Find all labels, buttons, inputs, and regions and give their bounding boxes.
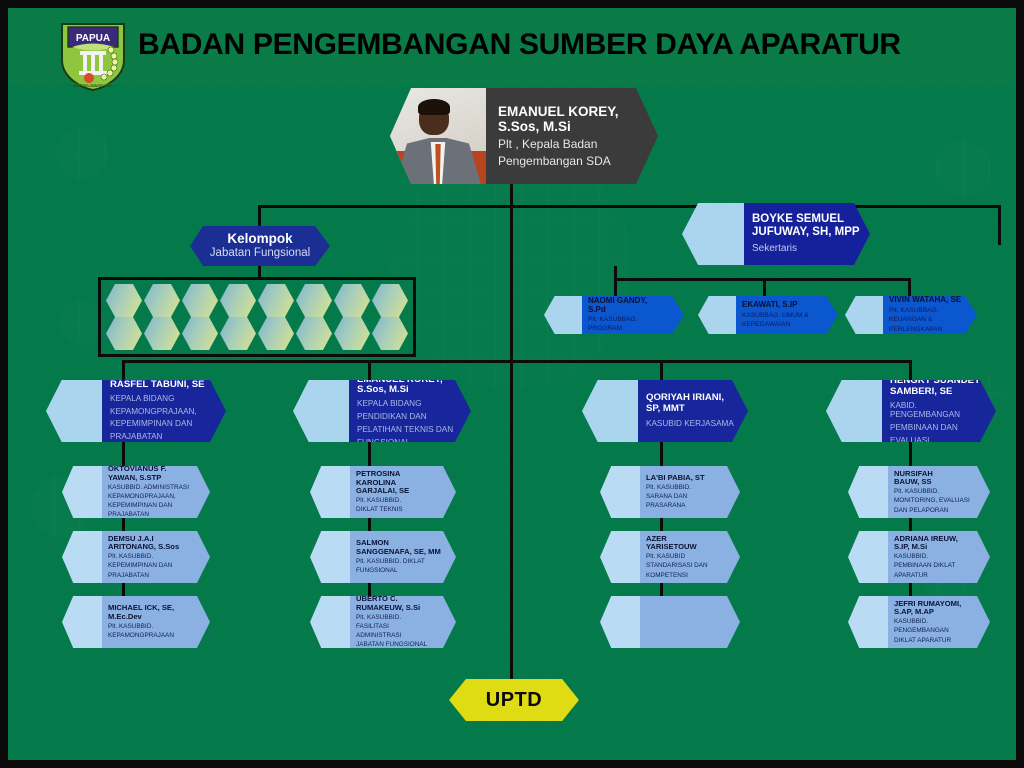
sub-card-3-2[interactable]: JEFRI RUMAYOMI, S.AP, M.AP KASUBBID. PEN… [848, 596, 990, 648]
sub-name2: S.AP, M.AP [894, 608, 980, 617]
sub-name2: SANGGENAFA, SE, MM [356, 548, 446, 557]
hex-cell[interactable] [258, 317, 294, 350]
bidang-hex-icon [293, 380, 349, 442]
bidang-name2-2: SP, MMT [646, 404, 738, 415]
connector-bidang-2 [660, 360, 663, 382]
sub-role2: FASILITASI [356, 623, 446, 631]
bidang-hex-icon [582, 380, 638, 442]
bidang-text-2: QORIYAH IRIANI, SP, MMT KASUBID KERJASAM… [638, 380, 748, 442]
hex-cell[interactable] [220, 284, 256, 317]
hex-cell[interactable] [258, 284, 294, 317]
org-chart-canvas: PAPUA KARYA SWADAYA BADAN PENGEMBANGAN S… [0, 0, 1024, 768]
bidang-role-2: KASUBID KERJASAMA [646, 419, 738, 429]
hex-cell[interactable] [182, 317, 218, 350]
kasubbag-name2-0: S.Pd [588, 306, 674, 315]
leader-name-line2: S.Sos, M.Si [498, 119, 648, 134]
hex-cell[interactable] [372, 284, 408, 317]
sub-name2: BAUW, SS [894, 478, 980, 487]
connector-bidang-horizontal [122, 360, 912, 363]
sub-role2: FUNGSIONAL [356, 567, 446, 575]
bidang-role-3: KABID. PENGEMBANGAN [890, 401, 986, 421]
page-title: BADAN PENGEMBANGAN SUMBER DAYA APARATUR [138, 28, 901, 62]
uptd-card[interactable]: UPTD [449, 679, 579, 721]
sub-text-1-0: PETROSINA KAROLINA GARJALAI, SE Plt. KAS… [350, 466, 456, 518]
sub-card-1-0[interactable]: PETROSINA KAROLINA GARJALAI, SE Plt. KAS… [310, 466, 456, 518]
hex-cell[interactable] [220, 317, 256, 350]
sub-hex-icon [310, 466, 350, 518]
connector-to-sekretaris-right [998, 205, 1001, 245]
bidang-hex-icon [826, 380, 882, 442]
sub-role: KASUBBID. ADMINISTRASI [108, 484, 200, 492]
sub-hex-icon [600, 466, 640, 518]
sub-role3: PRAJABATAN [108, 572, 200, 580]
sub-role: Plt. KASUBBID. DIKLAT [356, 558, 446, 566]
kasubbag-role2-1: KEPEGAWAIAN [742, 321, 828, 329]
sub-text-1-1: SALMON SANGGENAFA, SE, MM Plt. KASUBBID.… [350, 531, 456, 583]
sekretaris-card[interactable]: BOYKE SEMUEL JUFUWAY, SH, MPP Sekertaris [682, 203, 870, 265]
sub-text-1-2: UBERTO C. RUMAKEUW, S.Si Plt. KASUBBID. … [350, 596, 456, 648]
sub-hex-icon [848, 596, 888, 648]
bidang-role4-0: PRAJABATAN [110, 432, 216, 442]
sub-hex-icon [600, 596, 640, 648]
sub-hex-icon [62, 531, 102, 583]
kelompok-text: Kelompok Jabatan Fungsional [190, 226, 330, 266]
bidang-role3-1: PELATIHAN TEKNIS DAN [357, 425, 461, 435]
sub-name2: ARITONANG, S.Sos [108, 543, 200, 552]
sub-text-0-0: OKTOVIANUS F. YAWAN, S.STP KASUBBID. ADM… [102, 466, 210, 518]
sub-card-0-2[interactable]: MICHAEL ICK, SE, M.Ec.Dev Plt. KASUBBID.… [62, 596, 210, 648]
sekretaris-name-line1: BOYKE SEMUEL [752, 213, 860, 226]
emblem-motto: KARYA SWADAYA [74, 83, 113, 88]
sub-hex-icon [62, 596, 102, 648]
sub-role3: PRASARANA [646, 502, 730, 510]
sub-hex-icon [848, 531, 888, 583]
svg-text:PAPUA: PAPUA [76, 33, 110, 44]
bidang-role-0: KEPALA BIDANG [110, 394, 216, 404]
papua-coat-of-arms-icon: PAPUA KARYA SWADAYA [56, 20, 130, 92]
bidang-name2-1: S.Sos, M.Si [357, 385, 461, 396]
hex-cell[interactable] [182, 284, 218, 317]
bidang-role4-1: FUNGSIONAL [357, 438, 461, 448]
sub-text-3-0: NURSIFAH BAUW, SS Plt. KASUBBID. MONITOR… [888, 466, 990, 518]
kasubbag-name-1: EKAWATI, S.IP [742, 301, 828, 310]
sub-text-3-1: ADRIANA IREUW, S.IP, M.Si KASUBBID. PEMB… [888, 531, 990, 583]
sub-role2: KEPAMONGPRAJAAN [108, 632, 200, 640]
hex-cell[interactable] [296, 284, 332, 317]
leader-text: EMANUEL KOREY, S.Sos, M.Si Plt , Kepala … [486, 88, 658, 184]
sub-role: Plt. KASUBBID. [894, 488, 980, 496]
bidang-role-1: KEPALA BIDANG [357, 399, 461, 409]
sub-role2: KEPEMIMPINAN DAN [108, 562, 200, 570]
bidang-card-2[interactable]: QORIYAH IRIANI, SP, MMT KASUBID KERJASAM… [582, 380, 748, 442]
bidang-hex-icon [46, 380, 102, 442]
sub-role3: KEPEMIMPINAN DAN [108, 502, 200, 510]
sub-text-0-2: MICHAEL ICK, SE, M.Ec.Dev Plt. KASUBBID.… [102, 596, 210, 648]
sub-text-0-1: DEMSU J.A.I ARITONANG, S.Sos Plt. KASUBB… [102, 531, 210, 583]
kasubbag-card-2[interactable]: VIVIN WATAHA, SE Plt. KASUBBAG. KEUANGAN… [845, 296, 977, 334]
connector-kasubbag-0 [614, 278, 617, 296]
sub-role: Plt. KASUBID [646, 553, 730, 561]
sub-card-2-1[interactable]: AZER YARISETOUW Plt. KASUBID STANDARISAS… [600, 531, 740, 583]
kasubbag-role-2: Plt. KASUBBAG. [889, 307, 967, 315]
sub-role2: PEMBINAAN DIKLAT [894, 562, 980, 570]
sekretaris-hex-icon [682, 203, 744, 265]
sub-hex-icon [310, 531, 350, 583]
sub-name2: YAWAN, S.STP [108, 474, 200, 483]
connector-kasubbag-2 [908, 278, 911, 296]
connector-bidang-3 [909, 360, 912, 382]
connector-spine [510, 205, 513, 683]
connector-top-horizontal [258, 205, 1000, 208]
sub-role: KASUBBID. [894, 553, 980, 561]
bidang-name-2: QORIYAH IRIANI, [646, 393, 738, 404]
kasubbag-role-0: Plt. KASUBBAG. [588, 316, 674, 324]
sub-card-1-2[interactable]: UBERTO C. RUMAKEUW, S.Si Plt. KASUBBID. … [310, 596, 456, 648]
sekretaris-role: Sekertaris [752, 243, 860, 255]
sub-card-0-0[interactable]: OKTOVIANUS F. YAWAN, S.STP KASUBBID. ADM… [62, 466, 210, 518]
sub-card-1-1[interactable]: SALMON SANGGENAFA, SE, MM Plt. KASUBBID.… [310, 531, 456, 583]
leader-name-line1: EMANUEL KOREY, [498, 104, 648, 119]
sub-text-2-1: AZER YARISETOUW Plt. KASUBID STANDARISAS… [640, 531, 740, 583]
sekretaris-name-line2: JUFUWAY, SH, MPP [752, 226, 860, 239]
bidang-role3-3: EVALUASI [890, 436, 986, 446]
sub-role2: KEPAMONGPRAJAAN, [108, 493, 200, 501]
bidang-card-3[interactable]: HENGKY SUANDEY SAMBERI, SE KABID. PENGEM… [826, 380, 996, 442]
sub-name: LA'BI PABIA, ST [646, 474, 730, 483]
bidang-text-1: EMANUEL KOREY, S.Sos, M.Si KEPALA BIDANG… [349, 380, 471, 442]
sub-name2: S.IP, M.Si [894, 543, 980, 552]
sub-role2: DIKLAT TEKNIS [356, 506, 446, 514]
sub-role3: ADMINISTRASI [356, 632, 446, 640]
hex-cell[interactable] [144, 284, 180, 317]
sub-role3: DAN PELAPORAN [894, 507, 980, 515]
leader-photo [390, 88, 486, 184]
kasubbag-text-2: VIVIN WATAHA, SE Plt. KASUBBAG. KEUANGAN… [883, 296, 977, 334]
hex-cell[interactable] [334, 317, 370, 350]
kasubbag-role-1: KASUBBAG. UMUM & [742, 312, 828, 320]
kelompok-card[interactable]: Kelompok Jabatan Fungsional [190, 226, 330, 266]
sub-hex-icon [310, 596, 350, 648]
sub-hex-icon [600, 531, 640, 583]
kasubbag-role2-2: KEUANGAN & [889, 316, 967, 324]
kasubbag-text-0: NAOMI GANDY, S.Pd Plt. KASUBBAG. PROGRAM [582, 296, 684, 334]
sub-name2: M.Ec.Dev [108, 613, 200, 622]
sub-card-2-0[interactable]: LA'BI PABIA, ST Plt. KASUBBID. SARANA DA… [600, 466, 740, 518]
kasubbag-role3-2: PERLENGKAPAN [889, 326, 967, 334]
hex-cell[interactable] [106, 317, 142, 350]
kasubbag-name-2: VIVIN WATAHA, SE [889, 296, 967, 305]
sub-role2: SARANA DAN [646, 493, 730, 501]
hex-cell[interactable] [334, 284, 370, 317]
connector-bidang-0 [122, 360, 125, 382]
page-header: PAPUA KARYA SWADAYA BADAN PENGEMBANGAN S… [8, 8, 1016, 84]
bidang-role2-0: KEPAMONGPRAJAAN, [110, 407, 216, 417]
hex-row-1 [106, 284, 408, 317]
kasubbag-hex-icon [544, 296, 582, 334]
sub-card-3-1[interactable]: ADRIANA IREUW, S.IP, M.Si KASUBBID. PEMB… [848, 531, 990, 583]
sub-hex-icon [848, 466, 888, 518]
bidang-name-0: RASFEL TABUNI, SE [110, 380, 216, 391]
sub-role3: DIKLAT APARATUR [894, 637, 980, 645]
hex-cell[interactable] [144, 317, 180, 350]
sekretaris-text: BOYKE SEMUEL JUFUWAY, SH, MPP Sekertaris [744, 203, 870, 265]
sub-name2: RUMAKEUW, S.Si [356, 604, 446, 613]
hex-cell[interactable] [372, 317, 408, 350]
sub-role: Plt. KASUBBID. [356, 497, 446, 505]
bidang-name2-3: SAMBERI, SE [890, 387, 986, 398]
sub-role: Plt. KASUBBID. [108, 553, 200, 561]
sub-role: Plt. KASUBBID. [356, 614, 446, 622]
sub-role2: STANDARISASI DAN [646, 562, 730, 570]
sub-card-3-0[interactable]: NURSIFAH BAUW, SS Plt. KASUBBID. MONITOR… [848, 466, 990, 518]
sub-card-0-1[interactable]: DEMSU J.A.I ARITONANG, S.Sos Plt. KASUBB… [62, 531, 210, 583]
sub-role: Plt. KASUBBID. [646, 484, 730, 492]
bidang-card-1[interactable]: EMANUEL KOREY, S.Sos, M.Si KEPALA BIDANG… [293, 380, 471, 442]
sub-role2: PENGEMBANGAN [894, 627, 980, 635]
sub-name2: YARISETOUW [646, 543, 730, 552]
leader-role-line2: Pengembangan SDA [498, 154, 648, 168]
sub-text-2-0: LA'BI PABIA, ST Plt. KASUBBID. SARANA DA… [640, 466, 740, 518]
sub-text-2-2 [640, 596, 740, 648]
connector-to-kelompok [258, 205, 261, 227]
leader-role-line1: Plt , Kepala Badan [498, 137, 648, 151]
sub-hex-icon [62, 466, 102, 518]
sub-role: Plt. KASUBBID. [108, 623, 200, 631]
sub-role2: MONITORING, EVALUASI [894, 497, 980, 505]
bidang-text-0: RASFEL TABUNI, SE KEPALA BIDANG KEPAMONG… [102, 380, 226, 442]
sub-card-2-2[interactable] [600, 596, 740, 648]
sub-name3: GARJALAI, SE [356, 487, 446, 496]
hex-row-2 [106, 317, 408, 350]
bidang-card-0[interactable]: RASFEL TABUNI, SE KEPALA BIDANG KEPAMONG… [46, 380, 226, 442]
bidang-role2-3: PEMBINAAN DAN [890, 423, 986, 433]
bidang-text-3: HENGKY SUANDEY SAMBERI, SE KABID. PENGEM… [882, 380, 996, 442]
hex-cell[interactable] [296, 317, 332, 350]
jabatan-fungsional-grid [98, 277, 416, 357]
sub-role: KASUBBID. [894, 618, 980, 626]
connector-kasubbag-1 [763, 278, 766, 296]
sub-role4: JABATAN FUNGSIONAL [356, 641, 446, 649]
kasubbag-hex-icon [698, 296, 736, 334]
kasubbag-card-1[interactable]: EKAWATI, S.IP KASUBBAG. UMUM & KEPEGAWAI… [698, 296, 838, 334]
hex-cell[interactable] [106, 284, 142, 317]
sub-text-3-2: JEFRI RUMAYOMI, S.AP, M.AP KASUBBID. PEN… [888, 596, 990, 648]
sub-role3: APARATUR [894, 572, 980, 580]
kelompok-subtitle: Jabatan Fungsional [210, 247, 310, 261]
sub-role4: PRAJABATAN [108, 511, 200, 519]
leader-card[interactable]: EMANUEL KOREY, S.Sos, M.Si Plt , Kepala … [390, 88, 658, 184]
bidang-role3-0: KEPEMIMPINAN DAN [110, 419, 216, 429]
kasubbag-hex-icon [845, 296, 883, 334]
kasubbag-card-0[interactable]: NAOMI GANDY, S.Pd Plt. KASUBBAG. PROGRAM [544, 296, 684, 334]
kelompok-title: Kelompok [227, 231, 292, 246]
connector-bidang-1 [368, 360, 371, 382]
sub-role3: KOMPETENSI [646, 572, 730, 580]
uptd-label: UPTD [486, 689, 542, 712]
kasubbag-role2-0: PROGRAM [588, 325, 674, 333]
kasubbag-text-1: EKAWATI, S.IP KASUBBAG. UMUM & KEPEGAWAI… [736, 296, 838, 334]
bidang-role2-1: PENDIDIKAN DAN [357, 412, 461, 422]
